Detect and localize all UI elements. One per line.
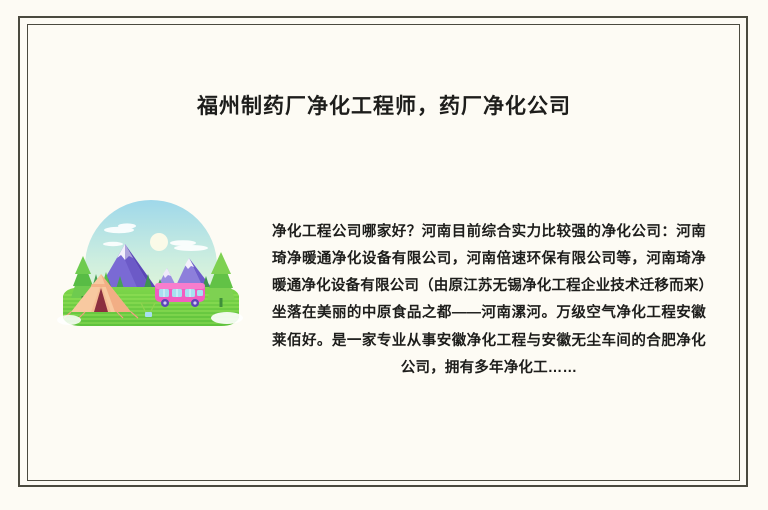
page-root: 福州制药厂净化工程师，药厂净化公司 [0,0,768,510]
content-area: 净化工程公司哪家好？河南目前综合实力比较强的净化公司：河南琦净暖通净化设备有限公… [40,196,728,416]
camping-scene-illustration [55,200,247,334]
article-body: 净化工程公司哪家好？河南目前综合实力比较强的净化公司：河南琦净暖通净化设备有限公… [272,219,706,383]
page-title: 福州制药厂净化工程师，药厂净化公司 [40,92,728,122]
sun-icon [150,233,168,251]
